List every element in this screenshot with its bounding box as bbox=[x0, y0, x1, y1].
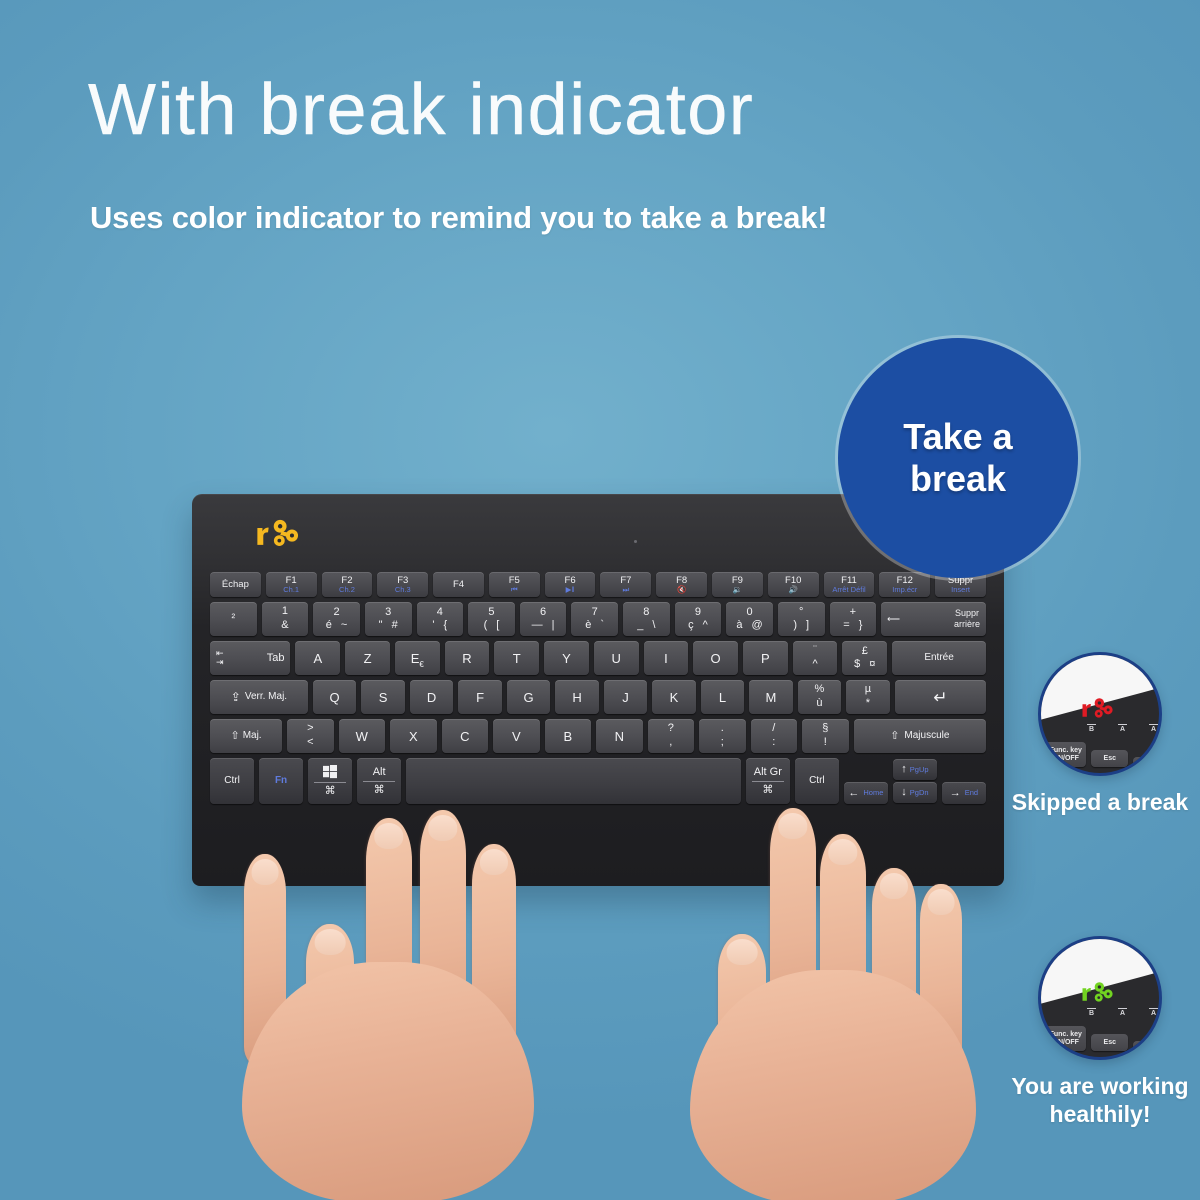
key-3[interactable]: 3 " # bbox=[365, 602, 412, 636]
key-label: 8 bbox=[643, 607, 649, 619]
badge-text: Take a break bbox=[903, 416, 1012, 501]
key-sublabel-alt: } bbox=[859, 620, 863, 631]
key-caps-lock[interactable]: ⇪ Verr. Maj. bbox=[210, 680, 308, 714]
shift-icon: ⇧ bbox=[890, 731, 899, 742]
command-icon: ⌘ bbox=[762, 785, 773, 796]
page-subtitle: Uses color indicator to remind you to ta… bbox=[90, 196, 850, 240]
key-arrow-left[interactable]: ← Home bbox=[844, 782, 888, 804]
shift-icon: ⇧ bbox=[230, 731, 239, 742]
key-label: F bbox=[476, 691, 484, 704]
command-icon: ⌘ bbox=[325, 786, 336, 797]
key-i[interactable]: I bbox=[644, 641, 689, 675]
key-sublabel: ( bbox=[484, 620, 488, 631]
key-k[interactable]: K bbox=[652, 680, 695, 714]
key-w[interactable]: W bbox=[339, 719, 386, 753]
badge-line-1: Take a bbox=[903, 416, 1012, 458]
indicator-bar bbox=[1087, 1008, 1096, 1010]
arrow-left-icon: ⟵ bbox=[887, 615, 900, 624]
indicator-a1: A bbox=[1118, 724, 1127, 734]
indicator-bar bbox=[1149, 1008, 1158, 1010]
indicator-label: A bbox=[1149, 726, 1158, 733]
key-2[interactable]: 2 é ~ bbox=[313, 602, 360, 636]
callout-image-skipped: B A A Func. key ON/OFF Esc bbox=[1038, 652, 1162, 776]
key-label: P bbox=[761, 652, 770, 665]
key-label: F11 bbox=[841, 576, 857, 586]
enter-arrow-icon: ↵ bbox=[933, 689, 947, 706]
key-degree[interactable]: ° ) ] bbox=[778, 602, 825, 636]
key-sublabel-alt: ¤ bbox=[869, 659, 875, 670]
key-sublabel: é bbox=[326, 620, 332, 631]
key-sublabel: ^ bbox=[812, 659, 817, 671]
arrow-up-icon: ↑ bbox=[901, 764, 907, 775]
key-sublabels: = } bbox=[843, 620, 862, 631]
key-f5[interactable]: F5 ⏮ bbox=[489, 572, 540, 597]
key-label: F7 bbox=[620, 576, 631, 586]
key-f8[interactable]: F8 🔇 bbox=[656, 572, 707, 597]
key-label: Alt Gr bbox=[754, 767, 782, 778]
key-question-comma[interactable]: ? , bbox=[648, 719, 695, 753]
key-label: Ctrl bbox=[224, 776, 240, 786]
key-ctrl-left[interactable]: Ctrl bbox=[210, 758, 254, 804]
key-sublabel-alt: @ bbox=[752, 620, 763, 631]
callout-skipped-a-break: B A A Func. key ON/OFF Esc Skipped a bre… bbox=[1010, 652, 1190, 816]
key-label: J bbox=[622, 691, 629, 704]
key-tab[interactable]: ⇤⇥ Tab bbox=[210, 641, 290, 675]
key-label: Alt bbox=[373, 767, 386, 778]
finger-pinky bbox=[920, 884, 962, 1084]
key-label: Ctrl bbox=[809, 776, 825, 786]
page-title: With break indicator bbox=[88, 74, 754, 146]
key-label: F5 bbox=[509, 576, 520, 586]
key-m[interactable]: M bbox=[749, 680, 792, 714]
key-label: D bbox=[427, 691, 436, 704]
key-sublabel: Insert bbox=[951, 586, 970, 594]
key-f[interactable]: F bbox=[458, 680, 501, 714]
key-label: I bbox=[664, 652, 668, 665]
key-label: Majuscule bbox=[904, 731, 949, 741]
key-5[interactable]: 5 ( [ bbox=[468, 602, 515, 636]
key-sublabel: PgUp bbox=[910, 766, 929, 774]
key-sublabel: _ bbox=[637, 620, 643, 631]
key-label: E bbox=[411, 652, 420, 665]
key-label: µ bbox=[865, 684, 871, 696]
key-label: Z bbox=[364, 652, 372, 665]
key-sublabels: ç ^ bbox=[688, 620, 708, 631]
badge-line-2: break bbox=[903, 458, 1012, 500]
key-sublabels: à @ bbox=[736, 620, 762, 631]
key-sublabel: ù bbox=[816, 698, 822, 710]
key-sublabel-alt: [ bbox=[496, 620, 499, 631]
keyboard-rows: Échap F1 Ch.1 F2 Ch.2 F3 Ch.3 F4 bbox=[202, 572, 994, 804]
tab-arrows-icon: ⇤⇥ bbox=[216, 649, 224, 667]
key-sublabel-alt: \ bbox=[652, 620, 655, 631]
key-label: £ bbox=[862, 646, 868, 658]
key-divider bbox=[752, 781, 784, 782]
key-spacebar[interactable] bbox=[406, 758, 741, 804]
r-go-logo-icon bbox=[1080, 979, 1120, 1005]
key-label: F3 bbox=[397, 576, 408, 586]
key-label: 7 bbox=[592, 607, 598, 619]
key-label: F6 bbox=[565, 576, 576, 586]
finger-ring bbox=[872, 868, 916, 1078]
key-label: Tab bbox=[267, 653, 285, 664]
arrow-down-icon: ↓ bbox=[901, 787, 907, 798]
key-sublabel: è bbox=[585, 620, 591, 631]
key-sublabel: Ch.2 bbox=[339, 586, 355, 594]
key-shift-left[interactable]: ⇧ Maj. bbox=[210, 719, 282, 753]
key-label: T bbox=[513, 652, 521, 665]
key-h[interactable]: H bbox=[555, 680, 598, 714]
key-label: F10 bbox=[785, 576, 801, 586]
command-icon: ⌘ bbox=[374, 785, 385, 796]
callout-image-healthy: B A A Func. key ON/OFF Esc bbox=[1038, 936, 1162, 1060]
indicator-label: B bbox=[1087, 726, 1096, 733]
indicator-a2: A bbox=[1149, 1008, 1158, 1018]
key-label: Q bbox=[330, 691, 340, 704]
key-mu-asterisk[interactable]: µ * bbox=[846, 680, 889, 714]
indicator-bar bbox=[1087, 724, 1096, 726]
key-shift-right[interactable]: ⇧ Majuscule bbox=[854, 719, 987, 753]
key-label: Entrée bbox=[924, 653, 953, 663]
key-sublabel: Home bbox=[863, 789, 883, 797]
key-f2[interactable]: F2 Ch.2 bbox=[322, 572, 373, 597]
key-partial[interactable] bbox=[1133, 1041, 1155, 1051]
key-plus-equals[interactable]: + = } bbox=[830, 602, 877, 636]
key-label: Maj. bbox=[243, 731, 262, 741]
key-diaeresis-circumflex[interactable]: ¨ ^ bbox=[793, 641, 838, 675]
indicator-label: A bbox=[1118, 1010, 1127, 1017]
key-sublabel-alt: | bbox=[552, 620, 555, 631]
keyboard-row-home: ⇪ Verr. Maj. Q S D F G H J K L M % ù µ bbox=[210, 680, 986, 714]
indicator-label: B bbox=[1087, 1010, 1096, 1017]
key-esc[interactable]: Esc bbox=[1091, 750, 1128, 767]
key-sublabel: — bbox=[532, 620, 543, 631]
prev-track-icon: ⏮ bbox=[511, 586, 518, 594]
key-label: ² bbox=[231, 613, 235, 625]
key-label: W bbox=[356, 730, 368, 743]
arrow-left-icon: ← bbox=[848, 788, 859, 799]
key-backspace[interactable]: ⟵ Suppr arrière bbox=[881, 602, 986, 636]
key-sublabel: PgDn bbox=[910, 789, 929, 797]
key-enter[interactable]: ↵ bbox=[895, 680, 986, 714]
key-b[interactable]: B bbox=[545, 719, 592, 753]
keyboard-row-function: Échap F1 Ch.1 F2 Ch.2 F3 Ch.3 F4 bbox=[210, 572, 986, 597]
key-sublabel-alt: ~ bbox=[341, 620, 347, 631]
key-f12[interactable]: F12 Imp.écr bbox=[879, 572, 930, 597]
key-label: Verr. Maj. bbox=[245, 692, 287, 702]
key-sublabels: _ \ bbox=[637, 620, 655, 631]
key-sublabels: é ~ bbox=[326, 620, 348, 631]
key-sublabel-alt: { bbox=[444, 620, 448, 631]
key-label: F9 bbox=[732, 576, 743, 586]
key-sublabel: , bbox=[669, 737, 672, 749]
key-1[interactable]: 1 & bbox=[262, 602, 309, 636]
finger-pinky bbox=[244, 854, 286, 1068]
key-arrow-up[interactable]: ↑ PgUp bbox=[893, 759, 937, 780]
key-label: + bbox=[850, 607, 856, 619]
key-arrow-up-down-group[interactable]: ↑ PgUp ↓ PgDn bbox=[893, 758, 937, 804]
key-sublabel: arrière bbox=[954, 619, 980, 630]
finger-thumb bbox=[306, 924, 354, 1100]
key-label: 4 bbox=[437, 607, 443, 619]
key-sublabel: ' bbox=[432, 620, 434, 631]
r-go-logo-icon bbox=[254, 516, 308, 550]
key-d[interactable]: D bbox=[410, 680, 453, 714]
fingernail bbox=[928, 889, 955, 915]
key-arrow-down[interactable]: ↓ PgDn bbox=[893, 782, 937, 803]
key-sublabel-alt: ] bbox=[806, 620, 809, 631]
key-indicator-row: B A A bbox=[1087, 724, 1158, 734]
indicator-b: B bbox=[1087, 1008, 1096, 1018]
fingernail bbox=[727, 939, 758, 965]
key-j[interactable]: J bbox=[604, 680, 647, 714]
key-4[interactable]: 4 ' { bbox=[417, 602, 464, 636]
key-esc[interactable]: Esc bbox=[1091, 1034, 1128, 1051]
key-label: ? bbox=[668, 723, 674, 735]
key-sublabels: $ ¤ bbox=[854, 659, 875, 670]
key-sublabel: à bbox=[736, 620, 742, 631]
key-pound-dollar[interactable]: £ $ ¤ bbox=[842, 641, 887, 675]
key-label: Échap bbox=[222, 580, 249, 590]
arrow-right-icon: → bbox=[950, 788, 961, 799]
key-label: C bbox=[460, 730, 469, 743]
indicator-a2: A bbox=[1149, 724, 1158, 734]
key-sublabel: ) bbox=[793, 620, 797, 631]
key-label: N bbox=[615, 730, 624, 743]
callout-working-healthily: B A A Func. key ON/OFF Esc You are worki… bbox=[1010, 936, 1190, 1128]
indicator-label: A bbox=[1149, 1010, 1158, 1017]
key-label: S bbox=[379, 691, 388, 704]
indicator-b: B bbox=[1087, 724, 1096, 734]
key-divider bbox=[363, 781, 395, 782]
key-slash-colon[interactable]: / : bbox=[751, 719, 798, 753]
keyboard-row-numbers: ² 1 & 2 é ~ 3 " # bbox=[210, 602, 986, 636]
key-sublabels: ( [ bbox=[484, 620, 500, 631]
finger-thumb bbox=[718, 934, 766, 1106]
key-label: F4 bbox=[453, 580, 464, 590]
keyboard-row-shift: ⇧ Maj. > < W X C V B N ? , . bbox=[210, 719, 986, 753]
rgo-compact-break-keyboard: B Échap F1 Ch.1 F2 Ch.2 F3 Ch.3 bbox=[192, 494, 1004, 886]
key-alt-gr[interactable]: Alt Gr ⌘ bbox=[746, 758, 790, 804]
key-l[interactable]: L bbox=[701, 680, 744, 714]
key-label: Fn bbox=[275, 776, 287, 786]
mute-icon: 🔇 bbox=[677, 586, 686, 594]
key-percent-ugrave[interactable]: % ù bbox=[798, 680, 841, 714]
key-sublabel-alt: # bbox=[392, 620, 398, 631]
key-sublabel: : bbox=[772, 737, 775, 749]
key-sublabel: Ch.3 bbox=[395, 586, 411, 594]
key-label: 5 bbox=[488, 607, 494, 619]
key-func-toggle[interactable]: Func. key ON/OFF bbox=[1045, 742, 1086, 767]
key-sublabels: — | bbox=[532, 620, 555, 631]
key-sublabel: & bbox=[281, 620, 288, 632]
key-angle-brackets[interactable]: > < bbox=[287, 719, 334, 753]
key-label: G bbox=[523, 691, 533, 704]
key-u[interactable]: U bbox=[594, 641, 639, 675]
callout-keys: Func. key ON/OFF Esc bbox=[1041, 1026, 1159, 1051]
key-label: V bbox=[512, 730, 521, 743]
play-pause-icon: ▶‖ bbox=[566, 586, 575, 594]
key-q[interactable]: Q bbox=[313, 680, 356, 714]
key-section-exclamation[interactable]: § ! bbox=[802, 719, 849, 753]
indicator-bar bbox=[1118, 1008, 1127, 1010]
key-v[interactable]: V bbox=[493, 719, 540, 753]
key-n[interactable]: N bbox=[596, 719, 643, 753]
key-sublabel: " bbox=[379, 620, 383, 631]
key-f11[interactable]: F11 Arrêt Défil bbox=[824, 572, 875, 597]
key-sublabels: " # bbox=[379, 620, 398, 631]
key-sublabel: ! bbox=[824, 737, 827, 749]
callout-keys: Func. key ON/OFF Esc bbox=[1041, 742, 1159, 767]
key-7[interactable]: 7 è ` bbox=[571, 602, 618, 636]
key-sublabel: = bbox=[843, 620, 849, 631]
euro-icon: € bbox=[419, 661, 423, 669]
key-label: 6 bbox=[540, 607, 546, 619]
callout-label-healthy: You are working healthily! bbox=[1010, 1072, 1190, 1128]
fingernail bbox=[315, 929, 346, 955]
key-fn[interactable]: Fn bbox=[259, 758, 303, 804]
key-label: U bbox=[611, 652, 620, 665]
key-y[interactable]: Y bbox=[544, 641, 589, 675]
key-label: F2 bbox=[341, 576, 352, 586]
take-a-break-badge: Take a break bbox=[838, 338, 1078, 578]
key-f6[interactable]: F6 ▶‖ bbox=[545, 572, 596, 597]
key-label: R bbox=[462, 652, 471, 665]
key-sublabels: ) ] bbox=[793, 620, 809, 631]
key-z[interactable]: Z bbox=[345, 641, 390, 675]
key-f4[interactable]: F4 bbox=[433, 572, 484, 597]
key-sublabel: < bbox=[307, 737, 313, 749]
key-label: 2 bbox=[334, 607, 340, 619]
key-label: 9 bbox=[695, 607, 701, 619]
key-ctrl-right[interactable]: Ctrl bbox=[795, 758, 839, 804]
key-arrow-right[interactable]: → End bbox=[942, 782, 986, 804]
key-o[interactable]: O bbox=[693, 641, 738, 675]
key-label: 3 bbox=[385, 607, 391, 619]
key-partial[interactable] bbox=[1133, 757, 1155, 767]
key-label: A bbox=[314, 652, 323, 665]
status-led bbox=[634, 540, 637, 543]
volume-down-icon: 🔉 bbox=[733, 586, 742, 594]
key-label: O bbox=[711, 652, 721, 665]
key-sublabel: Ch.1 bbox=[283, 586, 299, 594]
key-label-group: Suppr arrière bbox=[954, 608, 980, 630]
keyboard-row-azerty: ⇤⇥ Tab A Z E € R T Y U I O P ¨ ^ bbox=[210, 641, 986, 675]
key-sublabel: ; bbox=[721, 737, 724, 749]
key-sublabel: $ bbox=[854, 659, 860, 670]
windows-icon bbox=[323, 765, 337, 779]
key-label: > bbox=[307, 723, 313, 735]
key-9[interactable]: 9 ç ^ bbox=[675, 602, 722, 636]
key-label: Suppr bbox=[954, 608, 980, 619]
key-p[interactable]: P bbox=[743, 641, 788, 675]
key-x[interactable]: X bbox=[390, 719, 437, 753]
key-sublabel-alt: ^ bbox=[703, 620, 708, 631]
key-enter-top[interactable]: Entrée bbox=[892, 641, 986, 675]
key-0[interactable]: 0 à @ bbox=[726, 602, 773, 636]
key-indicator-row: B A A bbox=[1087, 1008, 1158, 1018]
key-label: 1 bbox=[282, 606, 288, 618]
key-8[interactable]: 8 _ \ bbox=[623, 602, 670, 636]
key-s[interactable]: S bbox=[361, 680, 404, 714]
key-label: 0 bbox=[747, 607, 753, 619]
indicator-label: A bbox=[1118, 726, 1127, 733]
key-sublabel: Arrêt Défil bbox=[832, 586, 865, 594]
key-superscript-two[interactable]: ² bbox=[210, 602, 257, 636]
key-label: X bbox=[409, 730, 418, 743]
keyboard-row-modifiers: Ctrl Fn ⌘ Alt bbox=[210, 758, 986, 804]
key-label: F12 bbox=[897, 576, 913, 586]
key-e-euro[interactable]: E € bbox=[395, 641, 440, 675]
key-label: F8 bbox=[676, 576, 687, 586]
key-label: % bbox=[815, 684, 825, 696]
key-f9[interactable]: F9 🔉 bbox=[712, 572, 763, 597]
product-marketing-image: With break indicator Uses color indicato… bbox=[0, 0, 1200, 1200]
key-label: . bbox=[721, 723, 724, 735]
key-sublabel: ç bbox=[688, 620, 694, 631]
key-label: ¨ bbox=[813, 645, 817, 657]
key-func-toggle[interactable]: Func. key ON/OFF bbox=[1045, 1026, 1086, 1051]
key-label: K bbox=[670, 691, 679, 704]
key-f10[interactable]: F10 🔊 bbox=[768, 572, 819, 597]
key-divider bbox=[314, 782, 346, 783]
key-label: F1 bbox=[286, 576, 297, 586]
key-period-semicolon[interactable]: . ; bbox=[699, 719, 746, 753]
r-go-logo-icon bbox=[1080, 695, 1120, 721]
indicator-a1: A bbox=[1118, 1008, 1127, 1018]
key-t[interactable]: T bbox=[494, 641, 539, 675]
key-label: L bbox=[719, 691, 726, 704]
indicator-bar bbox=[1149, 724, 1158, 726]
callout-label-skipped: Skipped a break bbox=[1010, 788, 1190, 816]
key-r[interactable]: R bbox=[445, 641, 490, 675]
next-track-icon: ⏭ bbox=[622, 586, 629, 594]
key-windows-cmd[interactable]: ⌘ bbox=[308, 758, 352, 804]
key-g[interactable]: G bbox=[507, 680, 550, 714]
key-alt[interactable]: Alt ⌘ bbox=[357, 758, 401, 804]
palm bbox=[690, 970, 976, 1200]
key-c[interactable]: C bbox=[442, 719, 489, 753]
key-label: H bbox=[572, 691, 581, 704]
volume-up-icon: 🔊 bbox=[789, 586, 798, 594]
key-f7[interactable]: F7 ⏭ bbox=[600, 572, 651, 597]
key-label: § bbox=[822, 723, 828, 735]
key-label: B bbox=[563, 730, 572, 743]
key-sublabel: End bbox=[965, 789, 978, 797]
key-sublabels: ' { bbox=[432, 620, 447, 631]
key-label: ° bbox=[799, 607, 803, 619]
key-f1[interactable]: F1 Ch.1 bbox=[266, 572, 317, 597]
caps-lock-icon: ⇪ bbox=[231, 691, 241, 703]
key-label: Y bbox=[562, 652, 571, 665]
key-sublabel: * bbox=[866, 698, 870, 710]
key-sublabels: è ` bbox=[585, 620, 604, 631]
key-6[interactable]: 6 — | bbox=[520, 602, 567, 636]
key-sublabel: Imp.écr bbox=[892, 586, 917, 594]
key-a[interactable]: A bbox=[295, 641, 340, 675]
key-label: M bbox=[766, 691, 777, 704]
key-escape[interactable]: Échap bbox=[210, 572, 261, 597]
key-label: / bbox=[772, 723, 775, 735]
key-f3[interactable]: F3 Ch.3 bbox=[377, 572, 428, 597]
palm bbox=[242, 962, 534, 1200]
key-sublabel-alt: ` bbox=[600, 620, 604, 631]
indicator-bar bbox=[1118, 724, 1127, 726]
